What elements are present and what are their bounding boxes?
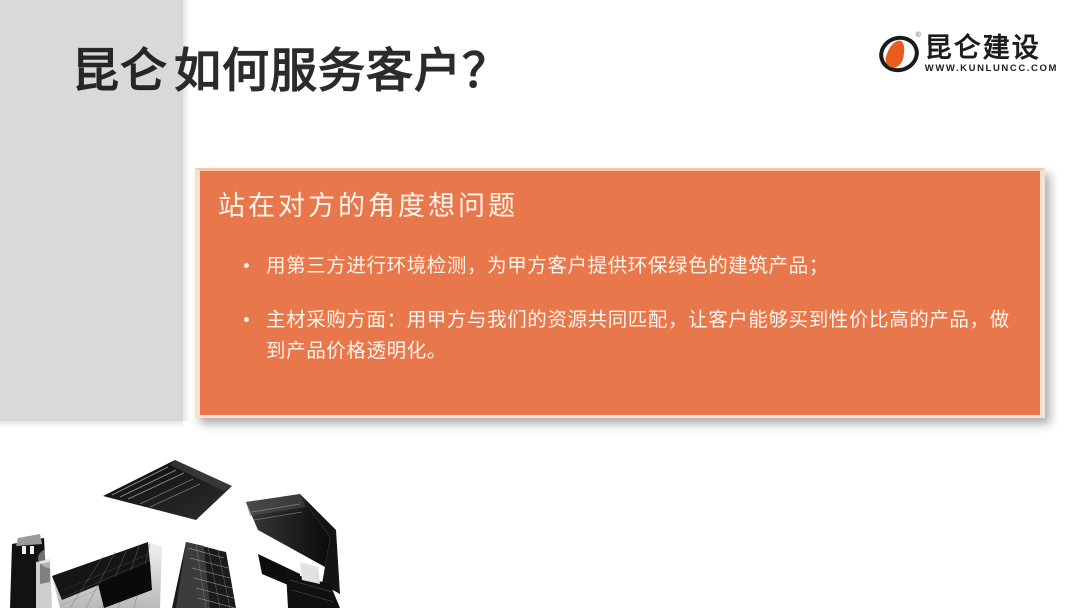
logo-company-name: 昆仑建设 <box>925 34 1058 62</box>
card-heading: 站在对方的角度想问题 <box>212 189 1014 224</box>
registered-mark-icon: ® <box>916 32 921 39</box>
list-item: 主材采购方面：用甲方与我们的资源共同匹配，让客户能够买到性价比高的产品，做到产品… <box>244 304 1014 367</box>
slide-canvas: 昆仑如何服务客户？ ® 昆仑建设 WWW.KUNLUNCC.COM 站在对方的角… <box>0 0 1080 608</box>
logo-text-block: 昆仑建设 WWW.KUNLUNCC.COM <box>925 34 1058 74</box>
bullet-list: 用第三方进行环境检测，为甲方客户提供环保绿色的建筑产品； 主材采购方面：用甲方与… <box>212 250 1014 367</box>
company-logo: ® 昆仑建设 WWW.KUNLUNCC.COM <box>877 28 1058 80</box>
page-title-rest: 如何服务客户？ <box>174 44 510 97</box>
logo-website-url: WWW.KUNLUNCC.COM <box>925 64 1058 74</box>
list-item: 用第三方进行环境检测，为甲方客户提供环保绿色的建筑产品； <box>244 250 1014 282</box>
content-card: 站在对方的角度想问题 用第三方进行环境检测，为甲方客户提供环保绿色的建筑产品； … <box>195 168 1045 418</box>
kunlun-flame-icon: ® <box>877 32 921 76</box>
skyline-photo <box>0 434 371 608</box>
page-title-brand: 昆仑 <box>72 44 168 97</box>
page-title: 昆仑如何服务客户？ <box>72 42 510 101</box>
